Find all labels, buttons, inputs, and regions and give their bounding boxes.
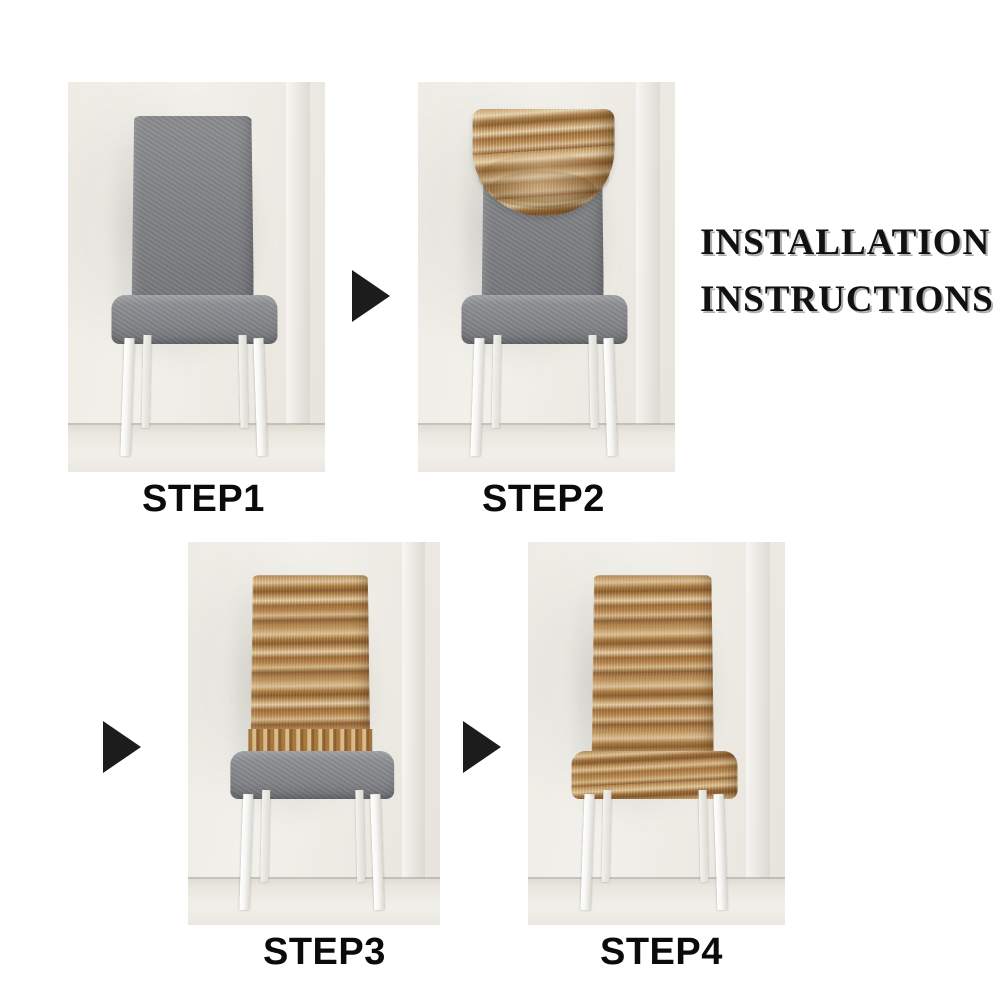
chair-leg-back-left <box>142 335 152 428</box>
step3-label: STEP3 <box>263 931 386 974</box>
chair <box>454 102 639 461</box>
step1-label: STEP1 <box>142 478 265 521</box>
chair-backrest-covered <box>592 575 714 755</box>
step2-label: STEP2 <box>482 478 605 521</box>
chair-seat <box>111 295 278 343</box>
arrow-right-icon <box>103 721 141 773</box>
step1-photo <box>68 82 325 472</box>
chair-backrest <box>132 116 254 299</box>
wall-corner-edge <box>636 82 659 472</box>
chair-leg-back-left <box>260 790 270 882</box>
chair-seat <box>461 295 628 343</box>
chair <box>104 102 289 461</box>
title-block: INSTALLATION INSTRUCTIONS <box>700 214 990 329</box>
slipcover-fold <box>478 154 609 204</box>
page-title-line-1: INSTALLATION <box>700 214 990 271</box>
wall-corner-edge <box>402 542 425 925</box>
wall-corner-edge <box>286 82 309 472</box>
step4-label: STEP4 <box>600 931 723 974</box>
step2-photo <box>418 82 675 472</box>
step4-photo <box>528 542 785 925</box>
chair <box>564 561 749 913</box>
slipcover-fold <box>490 171 595 208</box>
chair <box>223 561 404 913</box>
step3-photo <box>188 542 440 925</box>
wall-corner-edge <box>746 542 769 925</box>
chair-leg-back-left <box>492 335 502 428</box>
arrow-right-icon <box>463 721 501 773</box>
installation-instructions-page: { "title": { "line1": "INSTALLATION", "l… <box>0 0 1000 1000</box>
chair-seat-covered <box>571 751 738 799</box>
chair-leg-back-left <box>602 790 612 882</box>
arrow-right-icon <box>352 270 390 322</box>
chair-seat <box>231 751 394 799</box>
page-title-line-2: INSTRUCTIONS <box>700 271 990 328</box>
